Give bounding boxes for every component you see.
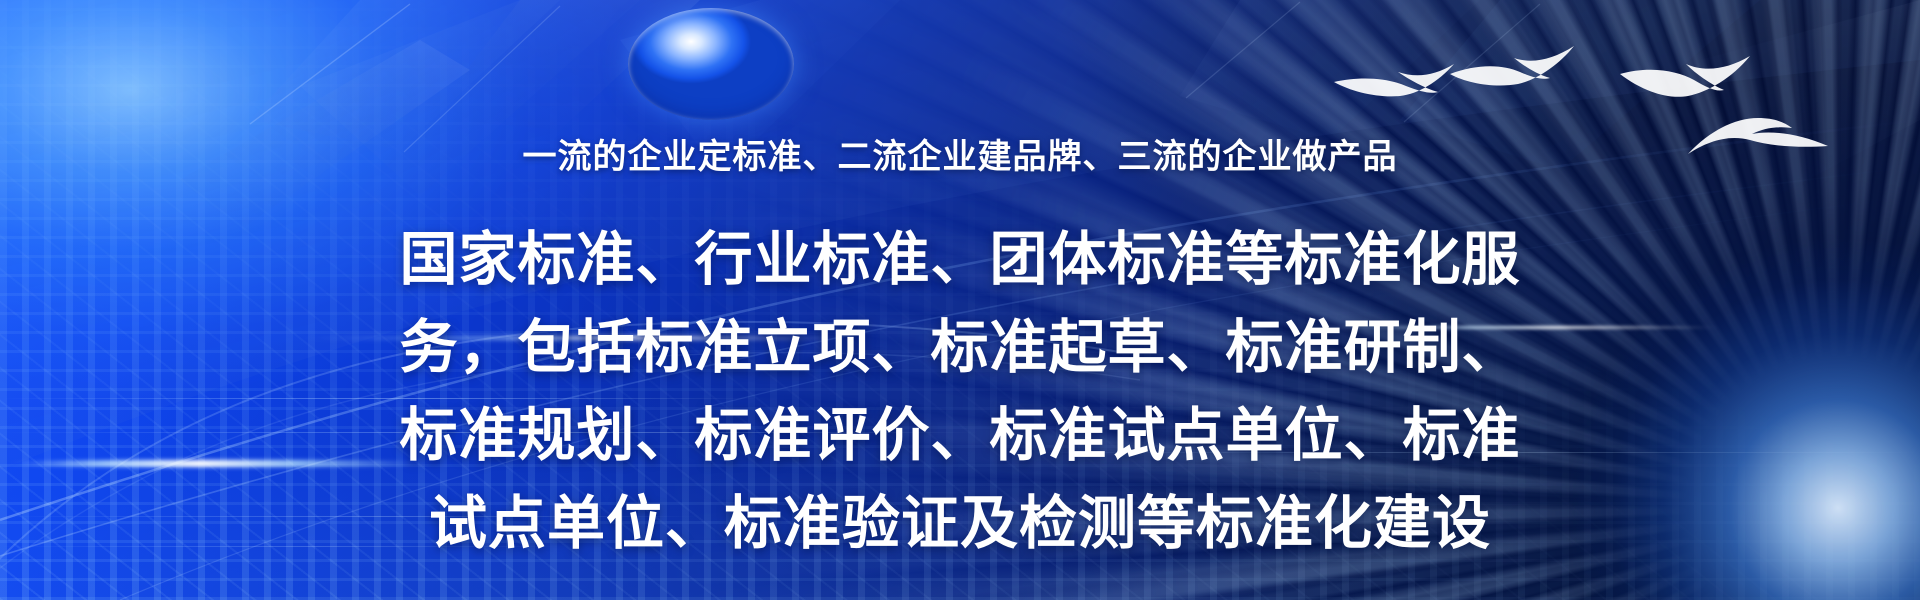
banner-body-copy: 国家标准、行业标准、团体标准等标准化服 务，包括标准立项、标准起草、标准研制、 … <box>315 216 1605 568</box>
body-line: 国家标准、行业标准、团体标准等标准化服 <box>315 216 1605 304</box>
promo-banner: 一流的企业定标准、二流企业建品牌、三流的企业做产品 国家标准、行业标准、团体标准… <box>0 0 1920 600</box>
banner-text-block: 一流的企业定标准、二流企业建品牌、三流的企业做产品 国家标准、行业标准、团体标准… <box>0 0 1920 600</box>
banner-tagline: 一流的企业定标准、二流企业建品牌、三流的企业做产品 <box>523 140 1398 174</box>
body-line: 务，包括标准立项、标准起草、标准研制、 <box>315 304 1605 392</box>
body-line: 试点单位、标准验证及检测等标准化建设 <box>315 480 1605 568</box>
body-line: 标准规划、标准评价、标准试点单位、标准 <box>315 392 1605 480</box>
